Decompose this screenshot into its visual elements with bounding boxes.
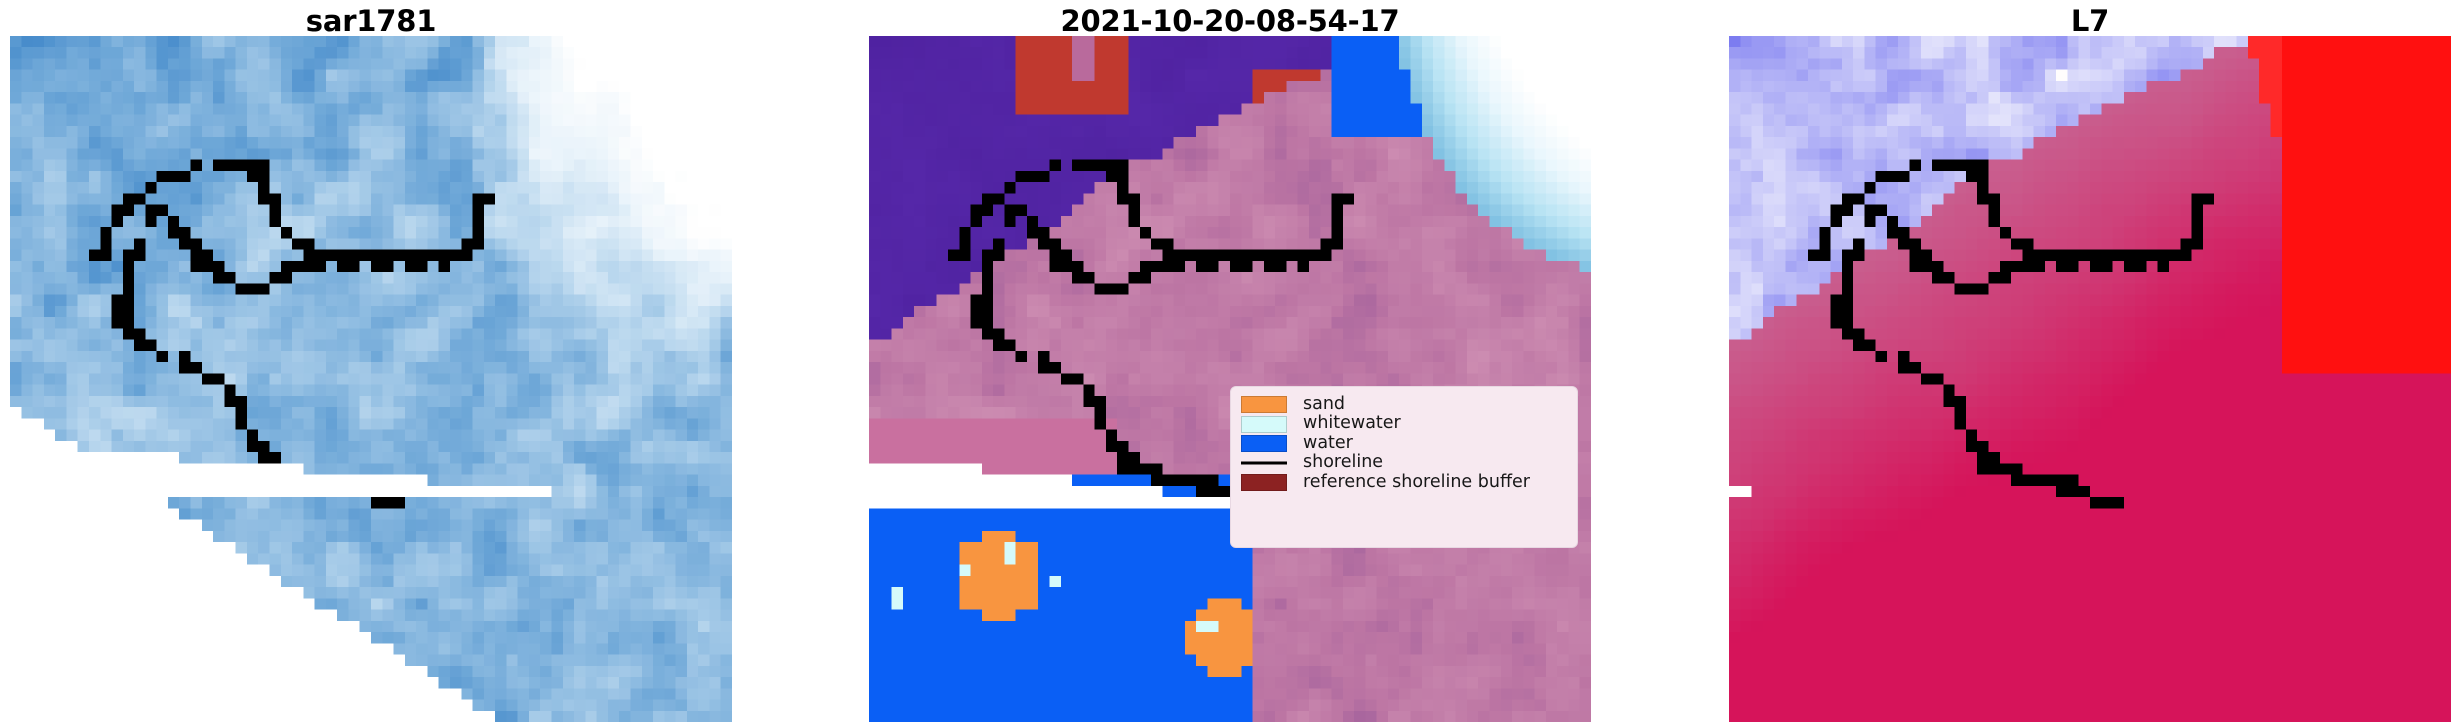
legend-label-reference-buffer: reference shoreline buffer (1303, 474, 1530, 492)
legend-item-sand: sand (1241, 395, 1563, 414)
panel-sar1781: sar1781 (10, 0, 732, 722)
legend-item-reference-buffer: reference shoreline buffer (1241, 473, 1563, 492)
legend-item-whitewater: whitewater (1241, 414, 1563, 433)
legend-swatch-water-icon (1241, 435, 1287, 452)
legend-item-shoreline: shoreline (1241, 453, 1563, 472)
raster-sar (10, 36, 732, 722)
legend-item-water: water (1241, 434, 1563, 453)
legend: sand whitewater water shoreline referenc… (1230, 386, 1578, 548)
panel-l7: L7 (1729, 0, 2451, 722)
legend-label-shoreline: shoreline (1303, 454, 1383, 472)
panel-title-classification: 2021-10-20-08-54-17 (869, 4, 1591, 38)
raster-classification (869, 36, 1591, 722)
legend-swatch-whitewater-icon (1241, 416, 1287, 433)
figure-canvas: sar1781 2021-10-20-08-54-17 L7 sand (0, 0, 2460, 722)
legend-label-water: water (1303, 435, 1353, 453)
axes-classification (869, 36, 1591, 722)
legend-line-shoreline-icon (1241, 454, 1287, 471)
legend-label-sand: sand (1303, 396, 1345, 414)
raster-l7 (1729, 36, 2451, 722)
legend-swatch-reference-buffer-icon (1241, 474, 1287, 491)
panel-title-l7: L7 (1729, 4, 2451, 38)
legend-label-whitewater: whitewater (1303, 415, 1401, 433)
legend-swatch-sand-icon (1241, 396, 1287, 413)
axes-l7 (1729, 36, 2451, 722)
axes-sar (10, 36, 732, 722)
panel-classification: 2021-10-20-08-54-17 (869, 0, 1591, 722)
panel-title-sar: sar1781 (10, 4, 732, 38)
